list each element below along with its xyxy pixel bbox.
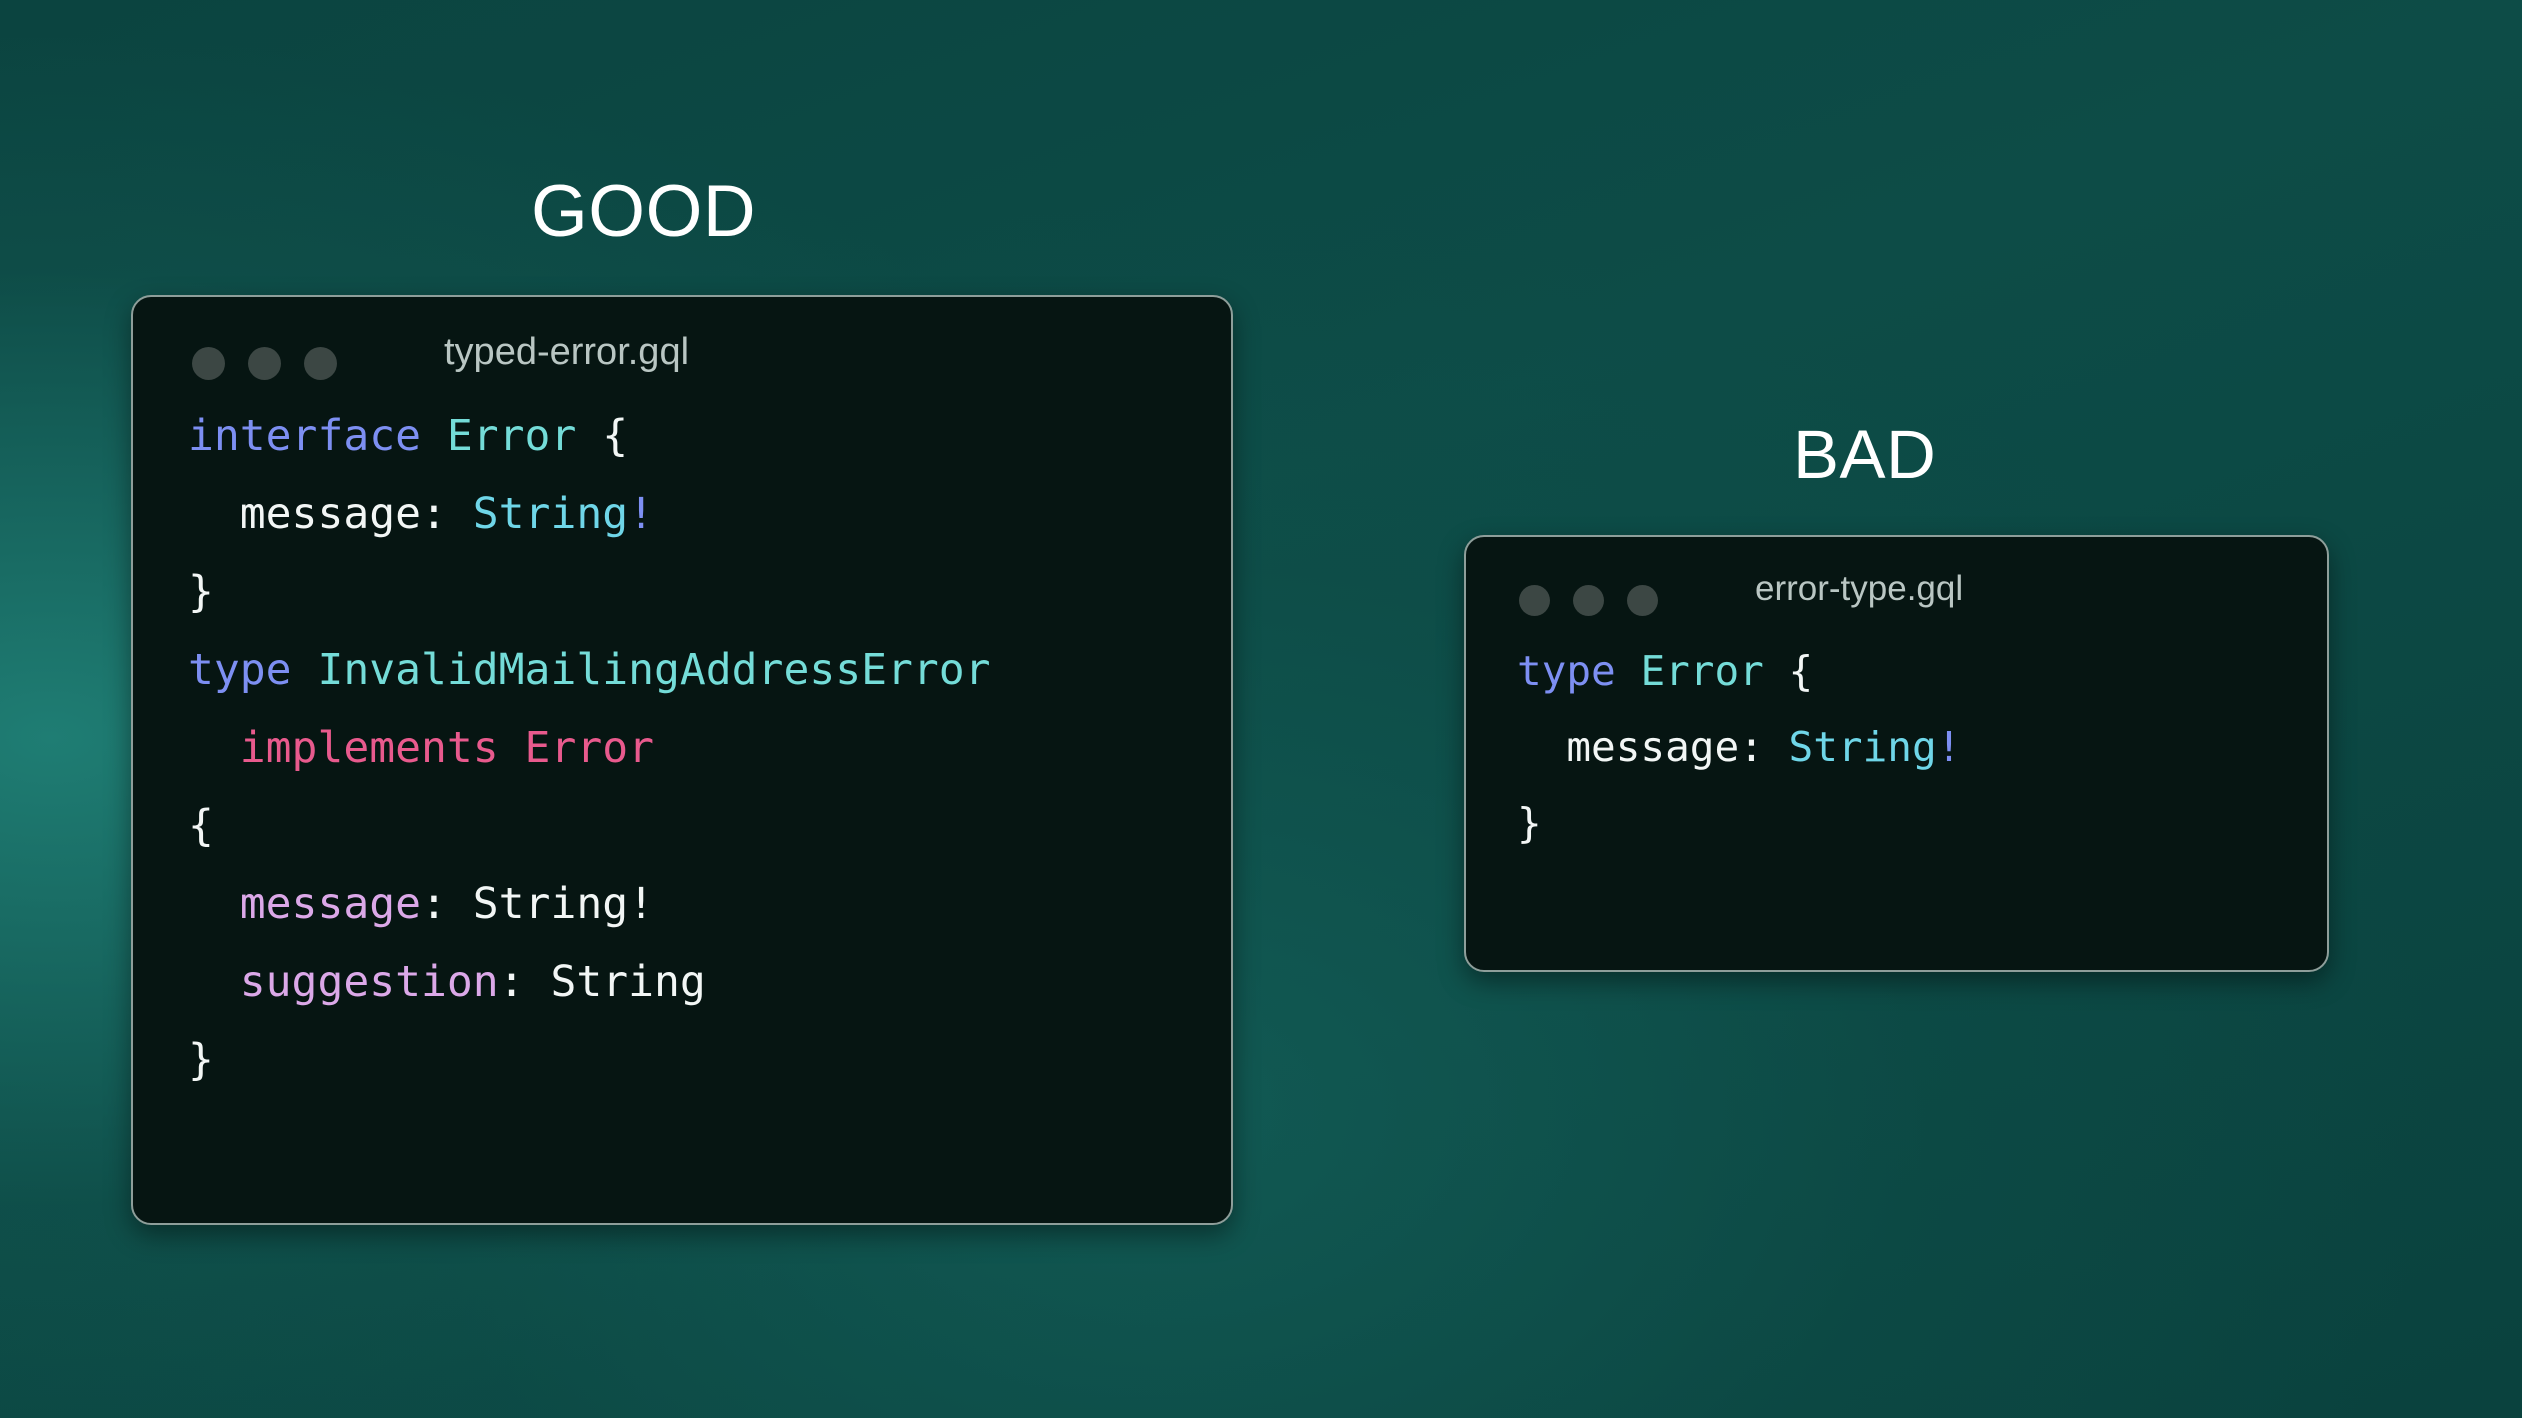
window-filename-good: typed-error.gql <box>444 331 689 374</box>
section-label-bad: BAD <box>1793 420 1936 489</box>
code-line: } <box>1517 785 2327 861</box>
traffic-lights-good <box>192 347 337 380</box>
code-token-field: message <box>240 879 421 929</box>
code-token-plain <box>576 411 602 461</box>
code-token-white: String <box>550 957 705 1007</box>
code-token-white: String <box>473 879 628 929</box>
code-token-plain <box>292 645 318 695</box>
code-token-white: ! <box>628 879 654 929</box>
code-line: message: String! <box>188 475 1231 553</box>
code-line: type Error { <box>1517 633 2327 709</box>
code-line: { <box>188 787 1231 865</box>
code-token-punct: : <box>499 957 551 1007</box>
minimize-dot-icon[interactable] <box>248 347 281 380</box>
code-token-typename: Error <box>447 411 576 461</box>
code-token-plain <box>188 723 240 773</box>
code-line: message: String! <box>1517 709 2327 785</box>
code-token-punct: } <box>188 567 214 617</box>
code-token-plain <box>188 489 240 539</box>
code-token-typename: InvalidMailingAddressError <box>317 645 990 695</box>
maximize-dot-icon[interactable] <box>1627 585 1658 616</box>
maximize-dot-icon[interactable] <box>304 347 337 380</box>
traffic-lights-bad <box>1519 585 1658 616</box>
window-filename-bad: error-type.gql <box>1755 569 1963 609</box>
code-token-plain <box>1764 647 1789 695</box>
code-line: } <box>188 553 1231 631</box>
code-token-bang: ! <box>1937 723 1962 771</box>
code-token-scalar: String <box>1789 723 1937 771</box>
close-dot-icon[interactable] <box>1519 585 1550 616</box>
code-token-plain <box>421 411 447 461</box>
code-token-punct: : <box>421 879 473 929</box>
code-token-punct: { <box>1789 647 1814 695</box>
code-line: suggestion: String <box>188 943 1231 1021</box>
code-token-field: suggestion <box>240 957 499 1007</box>
code-token-scalar: String <box>473 489 628 539</box>
section-label-good: GOOD <box>531 175 756 248</box>
code-token-punct: { <box>602 411 628 461</box>
code-line: implements Error <box>188 709 1231 787</box>
code-line: message: String! <box>188 865 1231 943</box>
code-token-bang: ! <box>628 489 654 539</box>
code-token-implements: implements Error <box>240 723 654 773</box>
window-titlebar-good: typed-error.gql <box>133 297 1231 397</box>
code-token-plain <box>1517 723 1566 771</box>
minimize-dot-icon[interactable] <box>1573 585 1604 616</box>
code-token-plain <box>188 879 240 929</box>
code-window-bad: error-type.gql type Error { message: Str… <box>1464 535 2329 972</box>
code-token-typename: Error <box>1640 647 1763 695</box>
code-line: } <box>188 1021 1231 1099</box>
code-content-good: interface Error { message: String!}type … <box>133 397 1231 1099</box>
code-token-keyword: type <box>188 645 292 695</box>
code-token-white: message <box>1566 723 1739 771</box>
code-token-punct: : <box>421 489 473 539</box>
code-token-punct: : <box>1739 723 1788 771</box>
close-dot-icon[interactable] <box>192 347 225 380</box>
code-line: type InvalidMailingAddressError <box>188 631 1231 709</box>
code-token-punct: } <box>1517 799 1542 847</box>
code-token-keyword: type <box>1517 647 1616 695</box>
code-content-bad: type Error { message: String!} <box>1466 633 2327 861</box>
code-token-plain <box>1616 647 1641 695</box>
code-line: interface Error { <box>188 397 1231 475</box>
code-token-white: message <box>240 489 421 539</box>
code-token-keyword: interface <box>188 411 421 461</box>
code-token-punct: } <box>188 1035 214 1085</box>
window-titlebar-bad: error-type.gql <box>1466 537 2327 633</box>
code-window-good: typed-error.gql interface Error { messag… <box>131 295 1233 1225</box>
code-token-plain <box>188 957 240 1007</box>
code-token-punct: { <box>188 801 214 851</box>
